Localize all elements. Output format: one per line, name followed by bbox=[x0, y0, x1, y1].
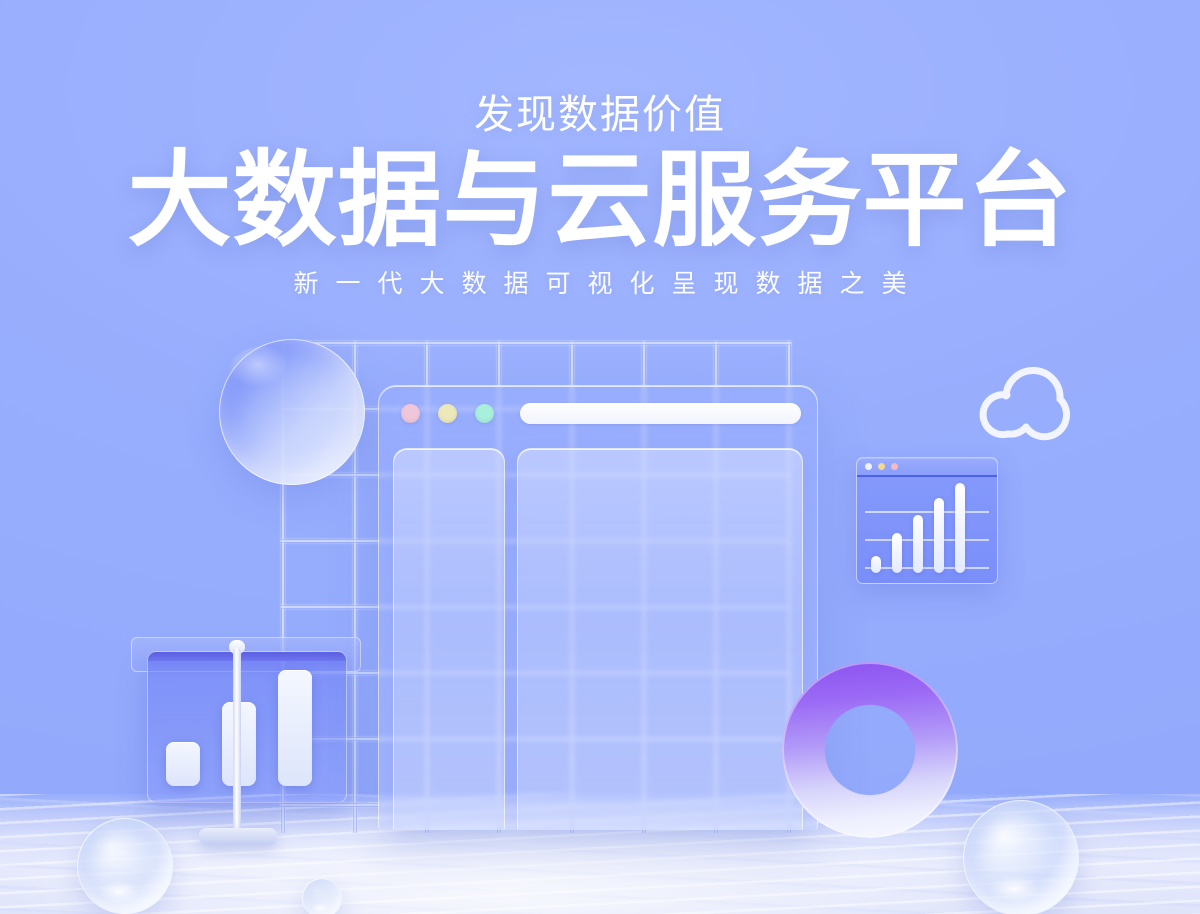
hero-banner: 发现数据价值 大数据与云服务平台 新一代大数据可视化呈现数据之美 bbox=[0, 0, 1200, 914]
window-dot-3-icon bbox=[891, 463, 898, 470]
cloud-icon bbox=[976, 366, 1072, 442]
mini-chart-bar bbox=[955, 483, 965, 573]
sidebar-pane[interactable] bbox=[393, 448, 505, 830]
browser-titlebar bbox=[379, 386, 817, 440]
stand-base bbox=[199, 828, 277, 845]
headline-block: 发现数据价值 大数据与云服务平台 新一代大数据可视化呈现数据之美 bbox=[0, 0, 1200, 300]
mini-chart-bar bbox=[892, 533, 902, 573]
content-pane[interactable] bbox=[517, 448, 803, 830]
window-dot-1-icon bbox=[865, 463, 872, 470]
minimize-dot[interactable] bbox=[438, 404, 457, 423]
maximize-dot[interactable] bbox=[475, 404, 494, 423]
mini-chart-bar bbox=[913, 515, 923, 573]
card-bar bbox=[166, 742, 200, 786]
card-bar bbox=[278, 670, 312, 786]
donut-chart bbox=[782, 662, 958, 838]
glass-sphere-left bbox=[77, 818, 173, 914]
mini-chart-bar bbox=[934, 498, 944, 573]
card-bars bbox=[166, 682, 332, 786]
mini-chart-window bbox=[856, 457, 998, 584]
window-control-dots bbox=[401, 404, 494, 423]
bar-chart-card bbox=[131, 637, 361, 815]
tagline-text: 新一代大数据可视化呈现数据之美 bbox=[0, 268, 1200, 301]
close-dot[interactable] bbox=[401, 404, 420, 423]
eyebrow-text: 发现数据价值 bbox=[0, 92, 1200, 139]
window-dot-2-icon bbox=[878, 463, 885, 470]
mini-chart-bar bbox=[871, 556, 881, 573]
glass-sphere-right bbox=[963, 800, 1079, 914]
glass-disc bbox=[219, 339, 365, 485]
mini-chart-bars bbox=[871, 485, 987, 573]
mini-chart-titlebar bbox=[857, 458, 997, 477]
card-frontplate bbox=[147, 651, 347, 803]
address-bar[interactable] bbox=[520, 403, 801, 424]
glass-sphere-small bbox=[302, 878, 342, 914]
stand-pole bbox=[233, 648, 241, 840]
browser-window-mockup bbox=[378, 385, 818, 830]
page-title: 大数据与云服务平台 bbox=[0, 145, 1200, 257]
mini-chart-body bbox=[857, 477, 997, 584]
browser-panes bbox=[393, 448, 803, 830]
